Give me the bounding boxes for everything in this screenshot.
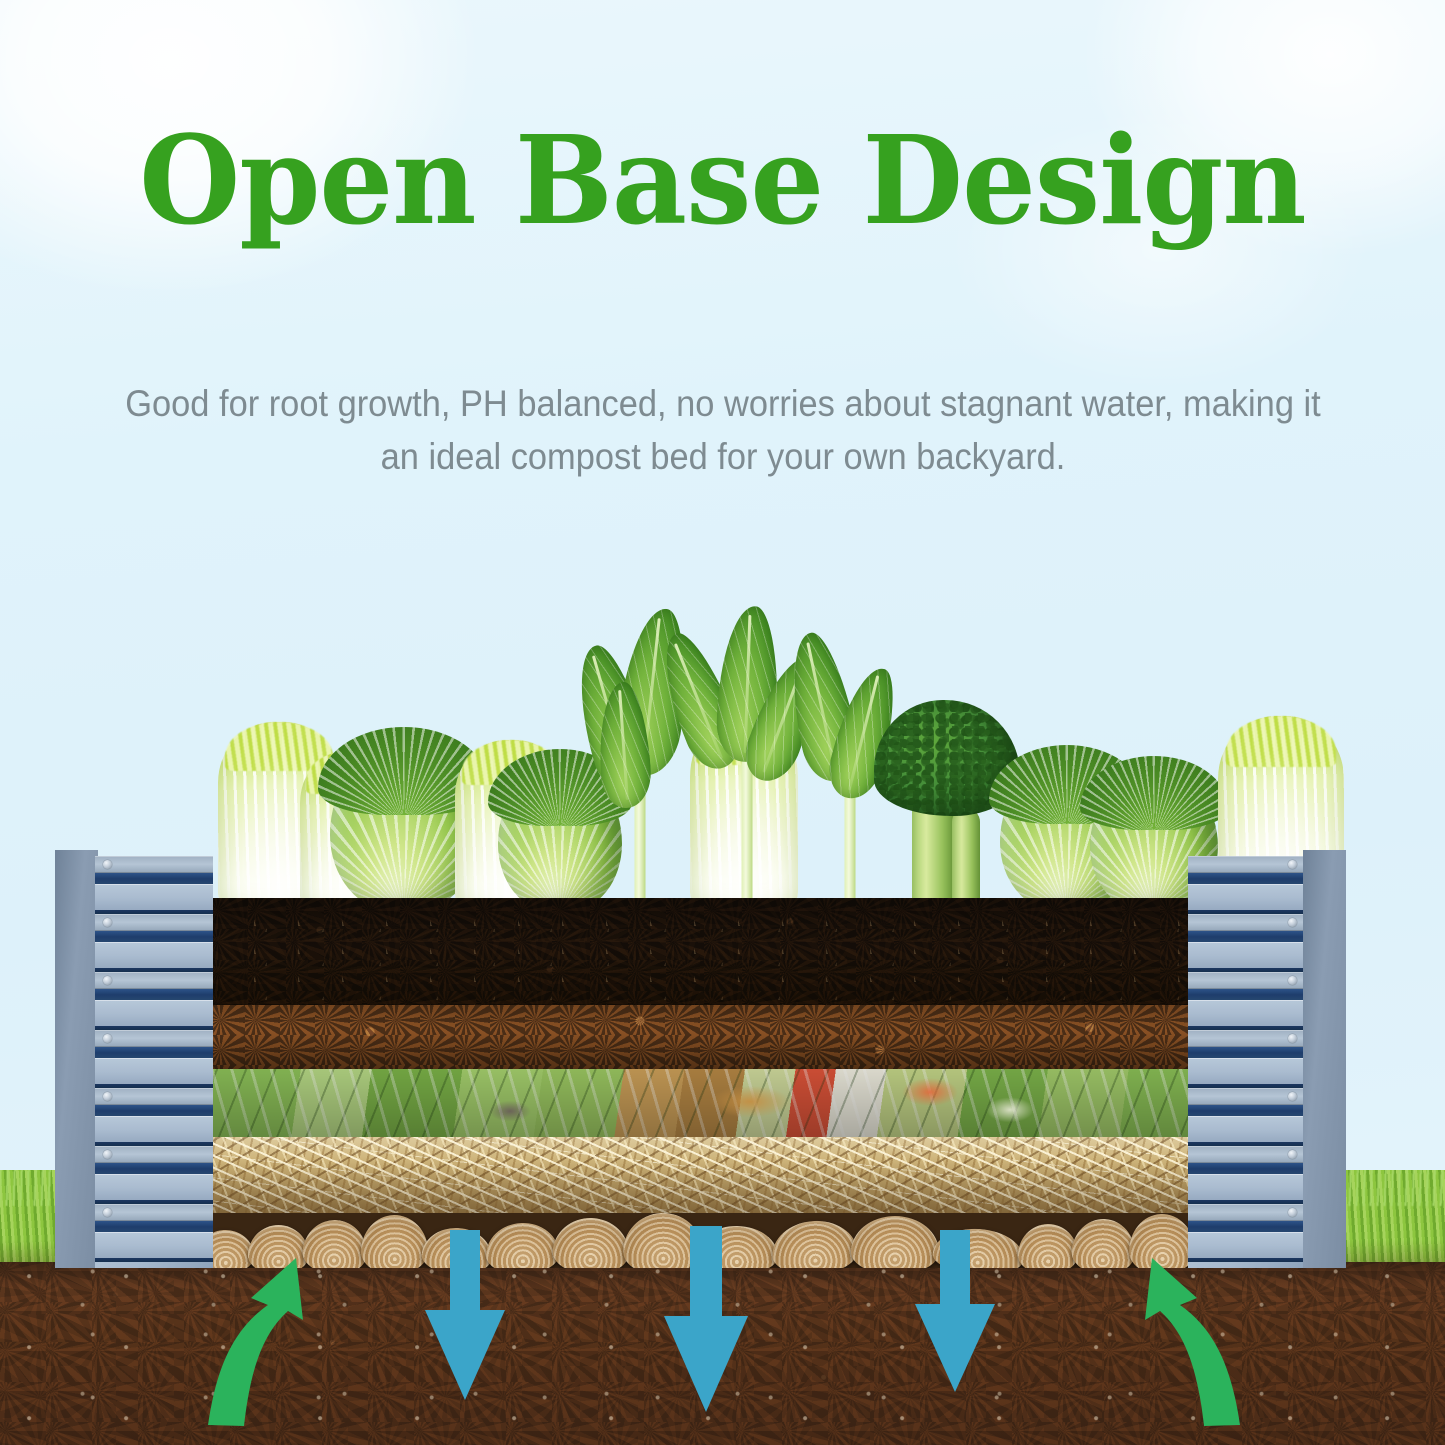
log-section (1128, 1213, 1196, 1268)
post-panel-seam (1188, 1258, 1306, 1262)
log-section (360, 1214, 428, 1268)
post-panel-slat (95, 1000, 213, 1026)
post-accent-stripe (1188, 931, 1306, 942)
post-screw (1288, 1092, 1297, 1101)
log-section (1071, 1217, 1137, 1268)
post-panel-seam (95, 1258, 213, 1262)
bok-choy-stem (742, 752, 753, 912)
broccoli-stalk (952, 808, 980, 912)
page-subtitle: Good for root growth, PH balanced, no wo… (104, 378, 1341, 483)
post-accent-stripe (95, 873, 213, 884)
log-section (851, 1216, 939, 1268)
post-panel-edge-strip (95, 972, 213, 989)
post-accent-stripe (1188, 1221, 1306, 1232)
log-section (696, 1225, 779, 1268)
post-accent-stripe (95, 1163, 213, 1174)
raised-bed-cross-section (210, 898, 1210, 1268)
log-section (301, 1218, 369, 1268)
post-accent-stripe (95, 1221, 213, 1232)
post-screw (103, 860, 112, 869)
post-panel-slat (1188, 1116, 1306, 1142)
corner-post-right (1188, 856, 1348, 1268)
post-accent-stripe (95, 931, 213, 942)
post-screw (103, 1092, 112, 1101)
post-accent-stripe (95, 1047, 213, 1058)
post-panel-edge-strip (95, 1204, 213, 1221)
post-panel-edge-strip (95, 1030, 213, 1047)
post-panel-slat (95, 1116, 213, 1142)
post-accent-stripe (95, 989, 213, 1000)
layer-straw-mulch (210, 1137, 1210, 1213)
post-accent-stripe (1188, 873, 1306, 884)
post-left-return-flange (55, 850, 98, 1268)
post-left-panel-face (95, 856, 213, 1268)
log-section (932, 1226, 1026, 1268)
post-panel-edge-strip (95, 856, 213, 873)
layer-logs (210, 1213, 1210, 1268)
post-panel-slat (95, 1174, 213, 1200)
post-screw (1288, 1208, 1297, 1217)
post-screw (1288, 918, 1297, 927)
post-panel-slat (1188, 884, 1306, 910)
post-panel-edge-strip (95, 1088, 213, 1105)
post-screw (1288, 1150, 1297, 1159)
post-screw (1288, 1034, 1297, 1043)
log-section (485, 1222, 560, 1268)
post-panel-slat (95, 884, 213, 910)
post-screw (103, 1150, 112, 1159)
post-panel-slat (1188, 1174, 1306, 1200)
post-panel-slat (1188, 1000, 1306, 1026)
post-screw (103, 918, 112, 927)
post-accent-stripe (1188, 989, 1306, 1000)
corner-post-left (55, 856, 215, 1268)
layer-compost (210, 1005, 1210, 1069)
post-screw (1288, 976, 1297, 985)
post-panel-slat (95, 942, 213, 968)
post-panel-slat (1188, 1232, 1306, 1258)
log-section (770, 1218, 858, 1268)
page-title: Open Base Design (36, 118, 1409, 244)
post-accent-stripe (1188, 1047, 1306, 1058)
log-section (1018, 1223, 1079, 1268)
log-section (552, 1217, 630, 1268)
post-right-panel-face (1188, 856, 1306, 1268)
post-panel-slat (1188, 1058, 1306, 1084)
log-section (248, 1225, 309, 1268)
post-screw (103, 1034, 112, 1043)
post-screw (103, 976, 112, 985)
layer-kitchen-scraps (210, 1069, 1210, 1137)
post-panel-slat (95, 1058, 213, 1084)
post-screw (103, 1208, 112, 1217)
post-panel-slat (1188, 942, 1306, 968)
post-panel-edge-strip (95, 914, 213, 931)
post-screw (1288, 860, 1297, 869)
post-panel-slat (95, 1232, 213, 1258)
log-section (421, 1226, 493, 1268)
native-soil-ground (0, 1262, 1445, 1445)
infographic-stage: Open Base Design Good for root growth, P… (0, 0, 1445, 1445)
post-right-return-flange (1303, 850, 1346, 1268)
post-panel-edge-strip (95, 1146, 213, 1163)
post-accent-stripe (1188, 1105, 1306, 1116)
post-accent-stripe (95, 1105, 213, 1116)
layer-topsoil (210, 898, 1210, 1005)
log-section (621, 1213, 703, 1268)
post-accent-stripe (1188, 1163, 1306, 1174)
